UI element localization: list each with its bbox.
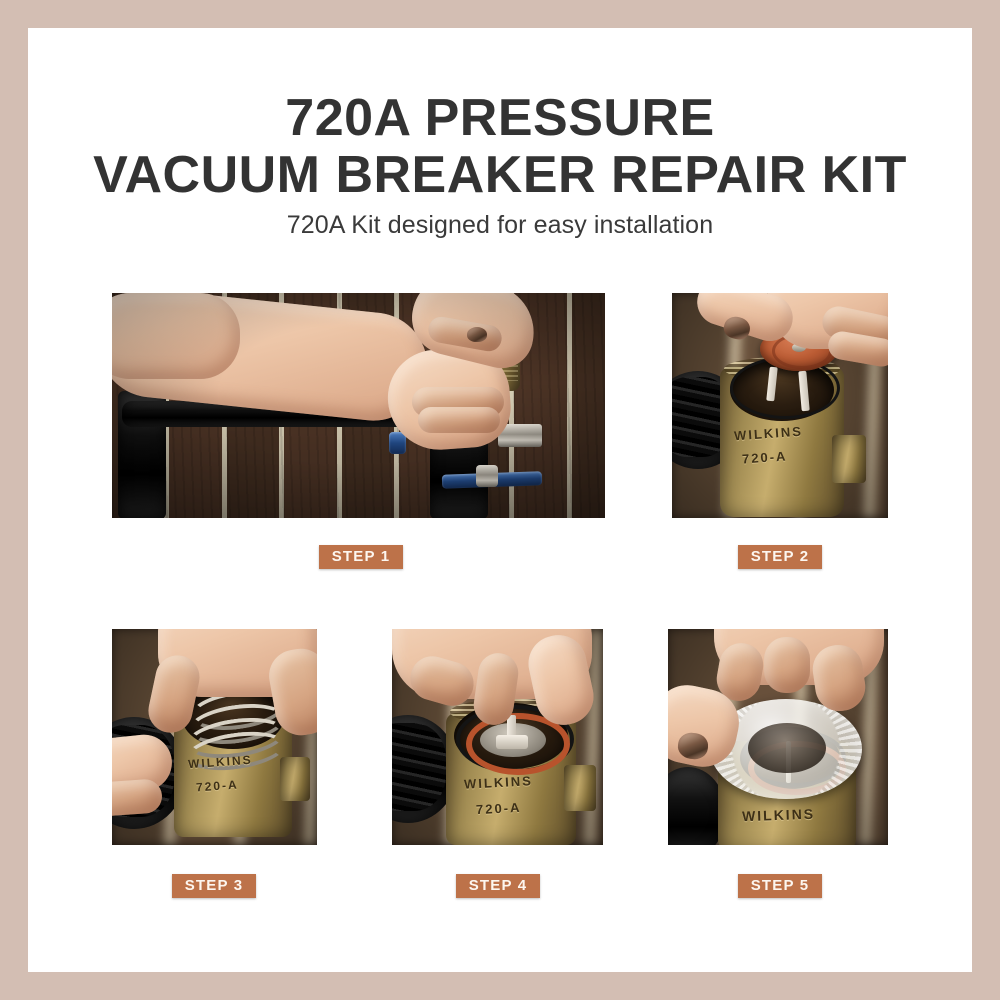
pipe-tape: [392, 723, 446, 811]
finger: [418, 407, 500, 433]
title-line-1: 720A PRESSURE: [28, 90, 972, 147]
page-title: 720A PRESSURE VACUUM BREAKER REPAIR KIT: [28, 90, 972, 204]
step-badge-4: STEP 4: [456, 874, 540, 898]
engraving-model: 720-A: [196, 778, 240, 795]
scene-seating-poppet: WILKINS 720-A: [392, 629, 603, 845]
finger: [764, 637, 810, 693]
body-side-flange: [564, 765, 596, 811]
step-badge-5: STEP 5: [738, 874, 822, 898]
engraving-wilkins: WILKINS: [742, 806, 816, 825]
step-badge-3: STEP 3: [172, 874, 256, 898]
step-2-photo: WILKINS 720-A: [672, 293, 888, 518]
step-4-photo: WILKINS 720-A: [392, 629, 603, 845]
poppet-stem-head: [496, 735, 528, 749]
step-badge-2: STEP 2: [738, 545, 822, 569]
body-side-flange: [832, 435, 866, 483]
product-infographic: 720A PRESSURE VACUUM BREAKER REPAIR KIT …: [0, 0, 1000, 1000]
body-side-flange: [280, 757, 310, 801]
scene-poppet-above-body: WILKINS 720-A: [672, 293, 888, 518]
step-3-photo: WILKINS 720-A: [112, 629, 317, 845]
step-1-photo: [112, 293, 605, 518]
cap-center-opening: [748, 723, 826, 773]
thumbnail: [467, 327, 487, 342]
scene-spring-in-body: WILKINS 720-A: [112, 629, 317, 845]
step-5-photo: WILKINS: [668, 629, 888, 845]
title-line-2: VACUUM BREAKER REPAIR KIT: [28, 147, 972, 204]
step-badge-1: STEP 1: [319, 545, 403, 569]
scene-cap-on-body: WILKINS: [668, 629, 888, 845]
scene-valve-on-fence: [112, 293, 605, 518]
upper-arm: [112, 293, 240, 379]
engraving-model: 720-A: [742, 448, 788, 466]
valve-nut: [476, 465, 498, 487]
engraving-model: 720-A: [476, 800, 522, 817]
white-content-panel: 720A PRESSURE VACUUM BREAKER REPAIR KIT …: [28, 28, 972, 972]
subtitle: 720A Kit designed for easy installation: [28, 211, 972, 240]
